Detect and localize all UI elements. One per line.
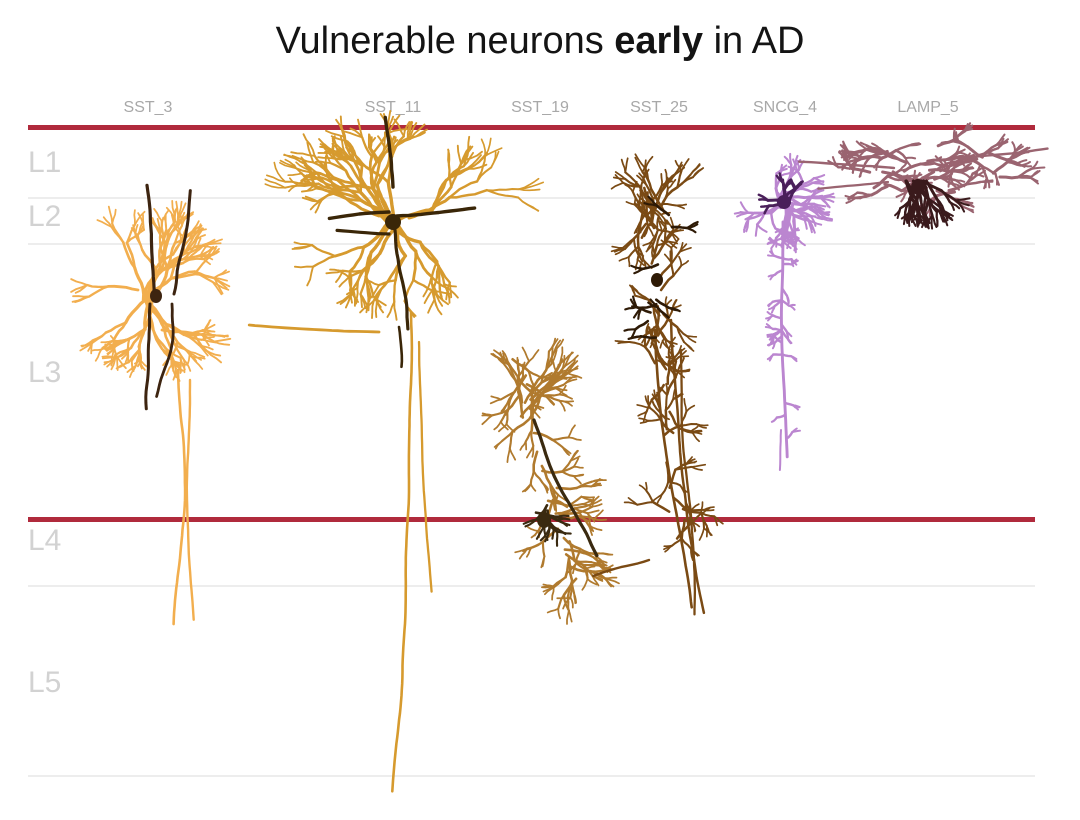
title-prefix: Vulnerable neurons [276, 20, 615, 62]
neuron-morphologies [0, 0, 1080, 820]
gridline-l1-l2 [28, 197, 1035, 199]
column-label-sst-25: SST_25 [630, 99, 688, 117]
column-label-sst-3: SST_3 [124, 99, 173, 117]
title-emphasis: early [614, 20, 703, 62]
layer-label-l1: L1 [28, 146, 61, 180]
layer-label-l4: L4 [28, 524, 61, 558]
layer-label-l5: L5 [28, 666, 61, 700]
gridline-l4-l5 [28, 585, 1035, 587]
layer-label-l3: L3 [28, 356, 61, 390]
boundary-l3-l4-major [28, 517, 1035, 522]
figure-title: Vulnerable neurons early in AD [0, 20, 1080, 63]
layer-label-l2: L2 [28, 200, 61, 234]
gridline-l2-l3 [28, 243, 1035, 245]
column-label-sncg-4: SNCG_4 [753, 99, 817, 117]
column-label-lamp-5: LAMP_5 [897, 99, 958, 117]
figure-canvas: Vulnerable neurons early in AD L1 L2 L3 … [0, 0, 1080, 820]
gridline-l5-bottom [28, 775, 1035, 777]
column-label-sst-19: SST_19 [511, 99, 569, 117]
boundary-top-major [28, 125, 1035, 130]
column-label-sst-11: SST_11 [365, 99, 422, 117]
title-suffix: in AD [703, 20, 804, 62]
